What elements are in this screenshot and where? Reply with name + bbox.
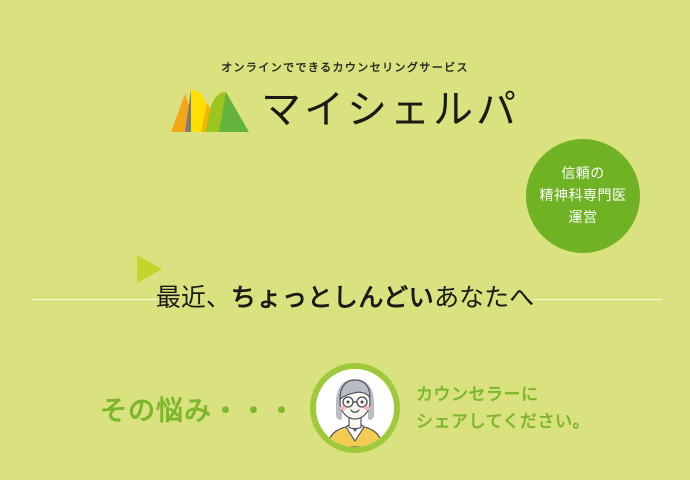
badge-line-3: 運営 xyxy=(569,207,598,229)
headline-suffix: あなたへ xyxy=(434,284,534,312)
counselor-avatar-icon xyxy=(310,363,400,453)
badge-line-2: 精神科専門医 xyxy=(540,185,627,207)
headline-prefix: 最近、 xyxy=(156,284,231,312)
mountains-logo-icon xyxy=(171,86,249,134)
trust-badge: 信頼の 精神科専門医 運営 xyxy=(526,139,640,253)
worry-text: その悩み・・・ xyxy=(100,389,296,428)
service-tagline: オンラインでできるカウンセリングサービス xyxy=(0,59,690,75)
share-text: カウンセラーに シェアしてください。 xyxy=(416,381,590,435)
headline-emphasis: ちょっとしんどい xyxy=(231,284,434,312)
share-line-1: カウンセラーに xyxy=(416,381,590,408)
brand-logo-row[interactable]: マイシェルパ xyxy=(0,84,690,136)
cta-row: その悩み・・・ xyxy=(0,358,690,458)
avatar-image xyxy=(316,369,394,447)
share-line-2: シェアしてください。 xyxy=(416,408,590,435)
hero-banner: オンラインでできるカウンセリングサービス マイシェルパ 信頼の 精神科専門医 xyxy=(0,0,690,480)
headline: 最近、ちょっとしんどいあなたへ xyxy=(0,285,690,313)
play-triangle-icon xyxy=(137,255,162,283)
badge-line-1: 信頼の xyxy=(561,163,605,185)
brand-name: マイシェルパ xyxy=(261,90,519,130)
